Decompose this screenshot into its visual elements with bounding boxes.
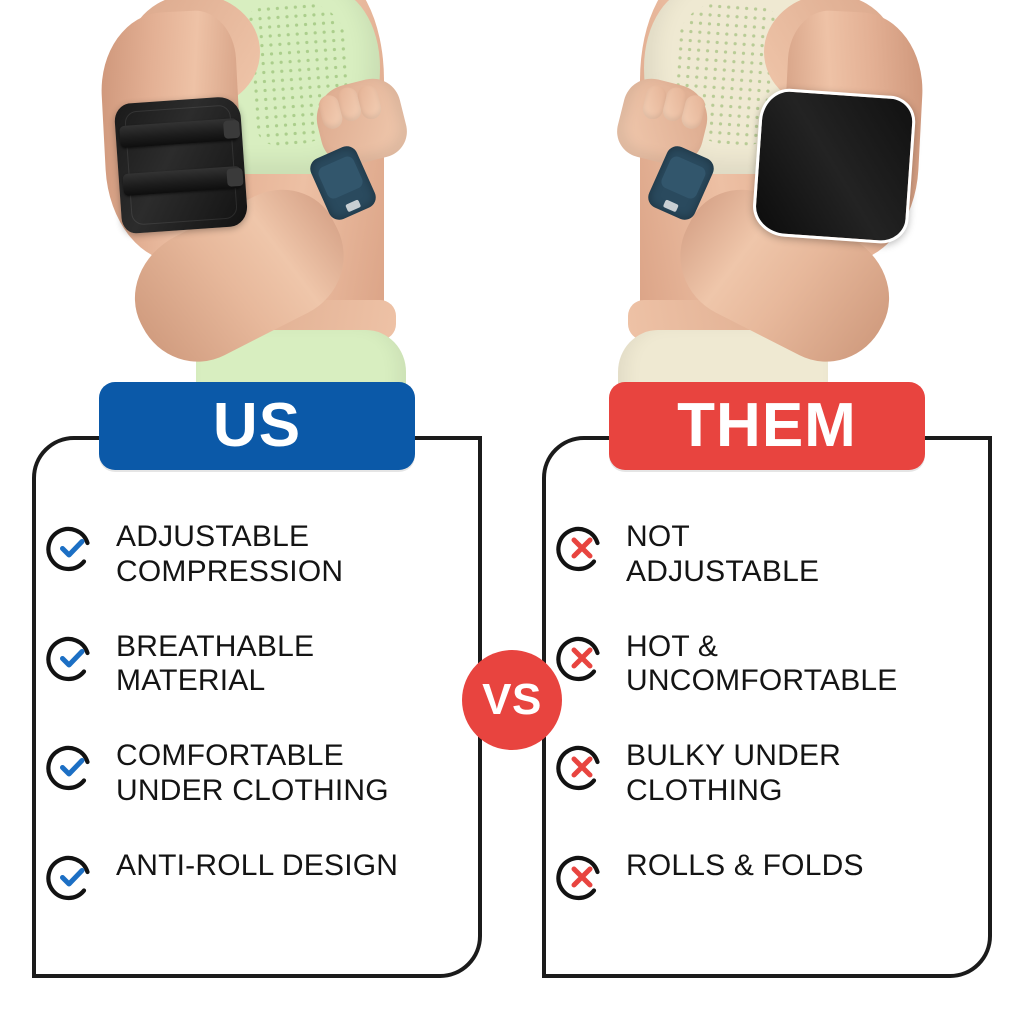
- list-item: HOT & UNCOMFORTABLE: [556, 628, 986, 700]
- feature-list-them: NOT ADJUSTABLE HOT & UNCOMFORTABLE: [556, 518, 986, 911]
- product-photo-them: [512, 0, 1024, 400]
- list-item: ROLLS & FOLDS: [556, 847, 986, 911]
- cross-circle-icon: [556, 741, 608, 793]
- check-circle-icon: [46, 741, 98, 793]
- model-figure-them: [512, 0, 1024, 400]
- check-circle-icon: [46, 522, 98, 574]
- check-circle-icon: [46, 632, 98, 684]
- watch-face: [659, 154, 708, 201]
- vs-badge-label: VS: [482, 678, 542, 722]
- badge-us: US: [99, 382, 415, 470]
- list-item-label: BULKY UNDER CLOTHING: [626, 737, 841, 809]
- cross-circle-icon: [556, 522, 608, 574]
- comparison-infographic: US ADJUSTABLE COMPRESSION: [0, 0, 1024, 1024]
- vs-badge: VS: [462, 650, 562, 750]
- list-item: NOT ADJUSTABLE: [556, 518, 986, 590]
- strap-tab: [226, 168, 243, 187]
- badge-them-label: THEM: [677, 395, 857, 457]
- badge-them: THEM: [609, 382, 925, 470]
- photo-comparison-area: [0, 0, 1024, 400]
- watch-face: [316, 154, 365, 201]
- list-item: ADJUSTABLE COMPRESSION: [46, 518, 446, 590]
- list-item-label: NOT ADJUSTABLE: [626, 518, 819, 590]
- list-item-label: ANTI-ROLL DESIGN: [116, 847, 398, 884]
- feature-list-us: ADJUSTABLE COMPRESSION BREATHABLE MATERI…: [46, 518, 446, 911]
- badge-us-label: US: [213, 395, 301, 457]
- list-item-label: BREATHABLE MATERIAL: [116, 628, 314, 700]
- list-item: BULKY UNDER CLOTHING: [556, 737, 986, 809]
- cross-circle-icon: [556, 632, 608, 684]
- watch-buckle: [663, 199, 679, 212]
- list-item-label: ROLLS & FOLDS: [626, 847, 864, 884]
- list-item: BREATHABLE MATERIAL: [46, 628, 446, 700]
- list-item: COMFORTABLE UNDER CLOTHING: [46, 737, 446, 809]
- list-item-label: HOT & UNCOMFORTABLE: [626, 628, 898, 700]
- adjustable-compression-sleeve: [114, 96, 249, 234]
- model-figure-us: [0, 0, 512, 400]
- strap-tab: [223, 120, 240, 139]
- list-item-label: ADJUSTABLE COMPRESSION: [116, 518, 343, 590]
- cross-circle-icon: [556, 851, 608, 903]
- plain-bulky-sleeve: [751, 87, 917, 246]
- product-photo-us: [0, 0, 512, 400]
- check-circle-icon: [46, 851, 98, 903]
- list-item-label: COMFORTABLE UNDER CLOTHING: [116, 737, 389, 809]
- watch-buckle: [345, 199, 361, 212]
- comparison-section: US ADJUSTABLE COMPRESSION: [0, 400, 1024, 1024]
- list-item: ANTI-ROLL DESIGN: [46, 847, 446, 911]
